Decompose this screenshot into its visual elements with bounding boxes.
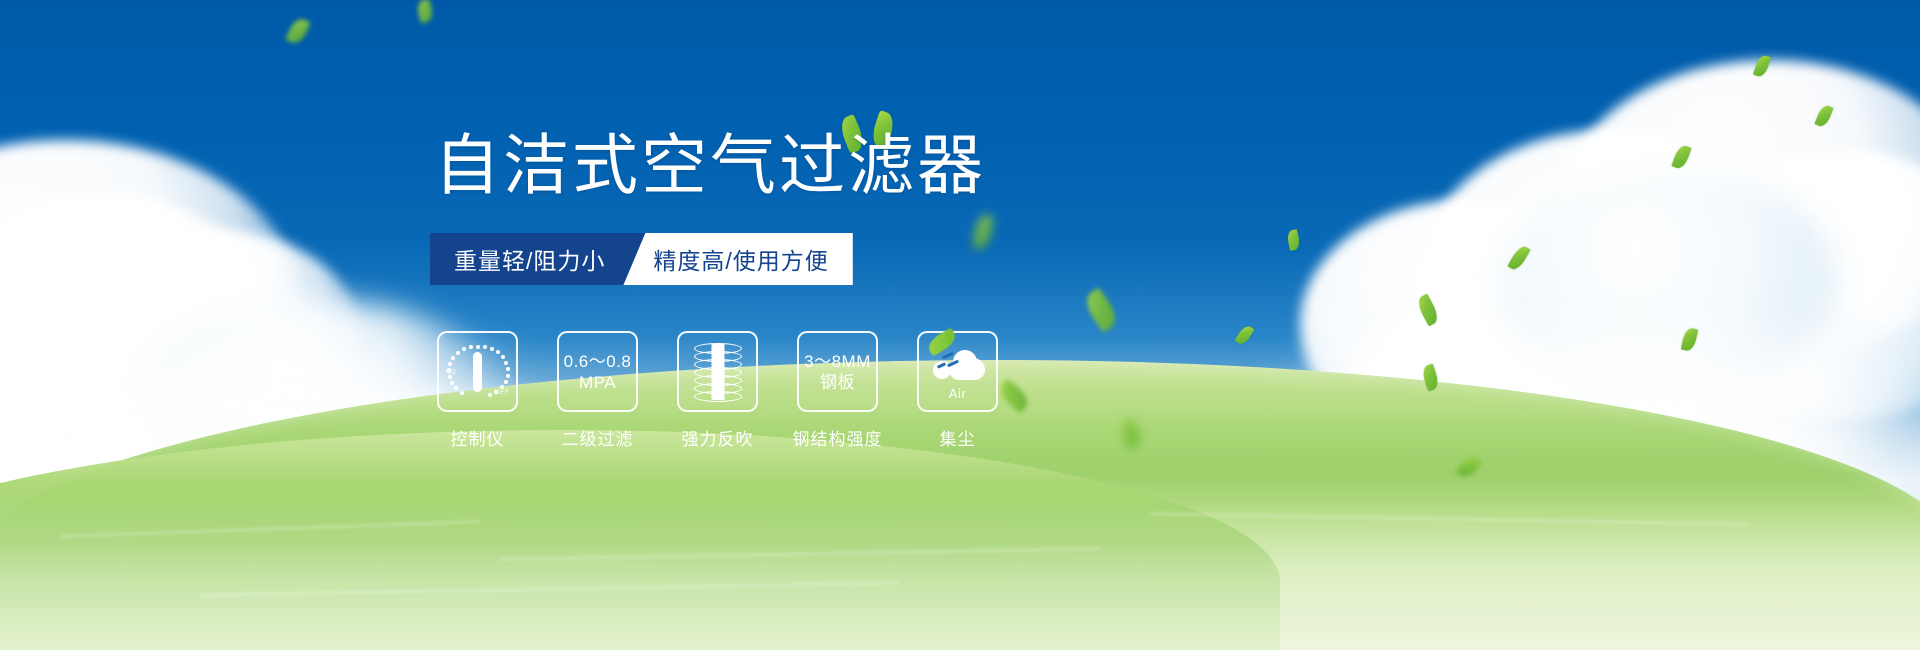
tab-label: 精度高/使用方便 — [653, 242, 828, 276]
feature-icon-box: Air — [917, 331, 998, 412]
feature-icon-box — [677, 331, 758, 412]
feature-list: NO OFF 控制仪 0.6～0.8 MPA 二级过滤 — [437, 331, 998, 450]
gauge-icon: NO OFF — [447, 343, 509, 401]
gauge-needle — [473, 352, 482, 392]
steel-value-line1: 3～8MM — [804, 351, 871, 372]
gauge-label-off: OFF — [496, 389, 510, 396]
feature-item-dust-collection[interactable]: Air 集尘 — [917, 331, 998, 450]
tab-lightweight-low-resistance[interactable]: 重量轻/阻力小 — [430, 233, 645, 285]
feature-item-secondary-filtration[interactable]: 0.6～0.8 MPA 二级过滤 — [557, 331, 638, 450]
steel-value-line2: 钢板 — [804, 372, 871, 393]
promo-banner: 自洁式空气过滤器 重量轻/阻力小 精度高/使用方便 — [0, 0, 1920, 650]
feature-icon-box: NO OFF — [437, 331, 518, 412]
coil-blowback-icon — [690, 342, 746, 402]
feature-icon-box: 0.6～0.8 MPA — [557, 331, 638, 412]
pressure-value-line1: 0.6～0.8 — [564, 351, 632, 372]
tab-high-precision-easy-use[interactable]: 精度高/使用方便 — [623, 233, 852, 285]
tab-bar: 重量轻/阻力小 精度高/使用方便 — [430, 233, 853, 285]
feature-item-controller[interactable]: NO OFF 控制仪 — [437, 331, 518, 450]
feature-label: 强力反吹 — [682, 425, 754, 450]
feature-label: 控制仪 — [451, 425, 505, 450]
feature-label: 二级过滤 — [562, 425, 634, 450]
banner-content: 自洁式空气过滤器 重量轻/阻力小 精度高/使用方便 — [0, 0, 1920, 650]
feature-icon-box: 3～8MM 钢板 — [797, 331, 878, 412]
feature-label: 钢结构强度 — [793, 425, 883, 450]
cloud-air-icon: Air — [929, 344, 987, 400]
feature-item-steel-strength[interactable]: 3～8MM 钢板 钢结构强度 — [797, 331, 878, 450]
feature-item-strong-blowback[interactable]: 强力反吹 — [677, 331, 758, 450]
cloud-shape — [933, 350, 985, 380]
tab-label: 重量轻/阻力小 — [454, 242, 605, 276]
feature-label: 集尘 — [940, 425, 976, 450]
pressure-value-line2: MPA — [564, 372, 632, 393]
page-title: 自洁式空气过滤器 — [434, 128, 986, 202]
gauge-label-no: NO — [446, 369, 456, 376]
air-label: Air — [929, 386, 987, 401]
